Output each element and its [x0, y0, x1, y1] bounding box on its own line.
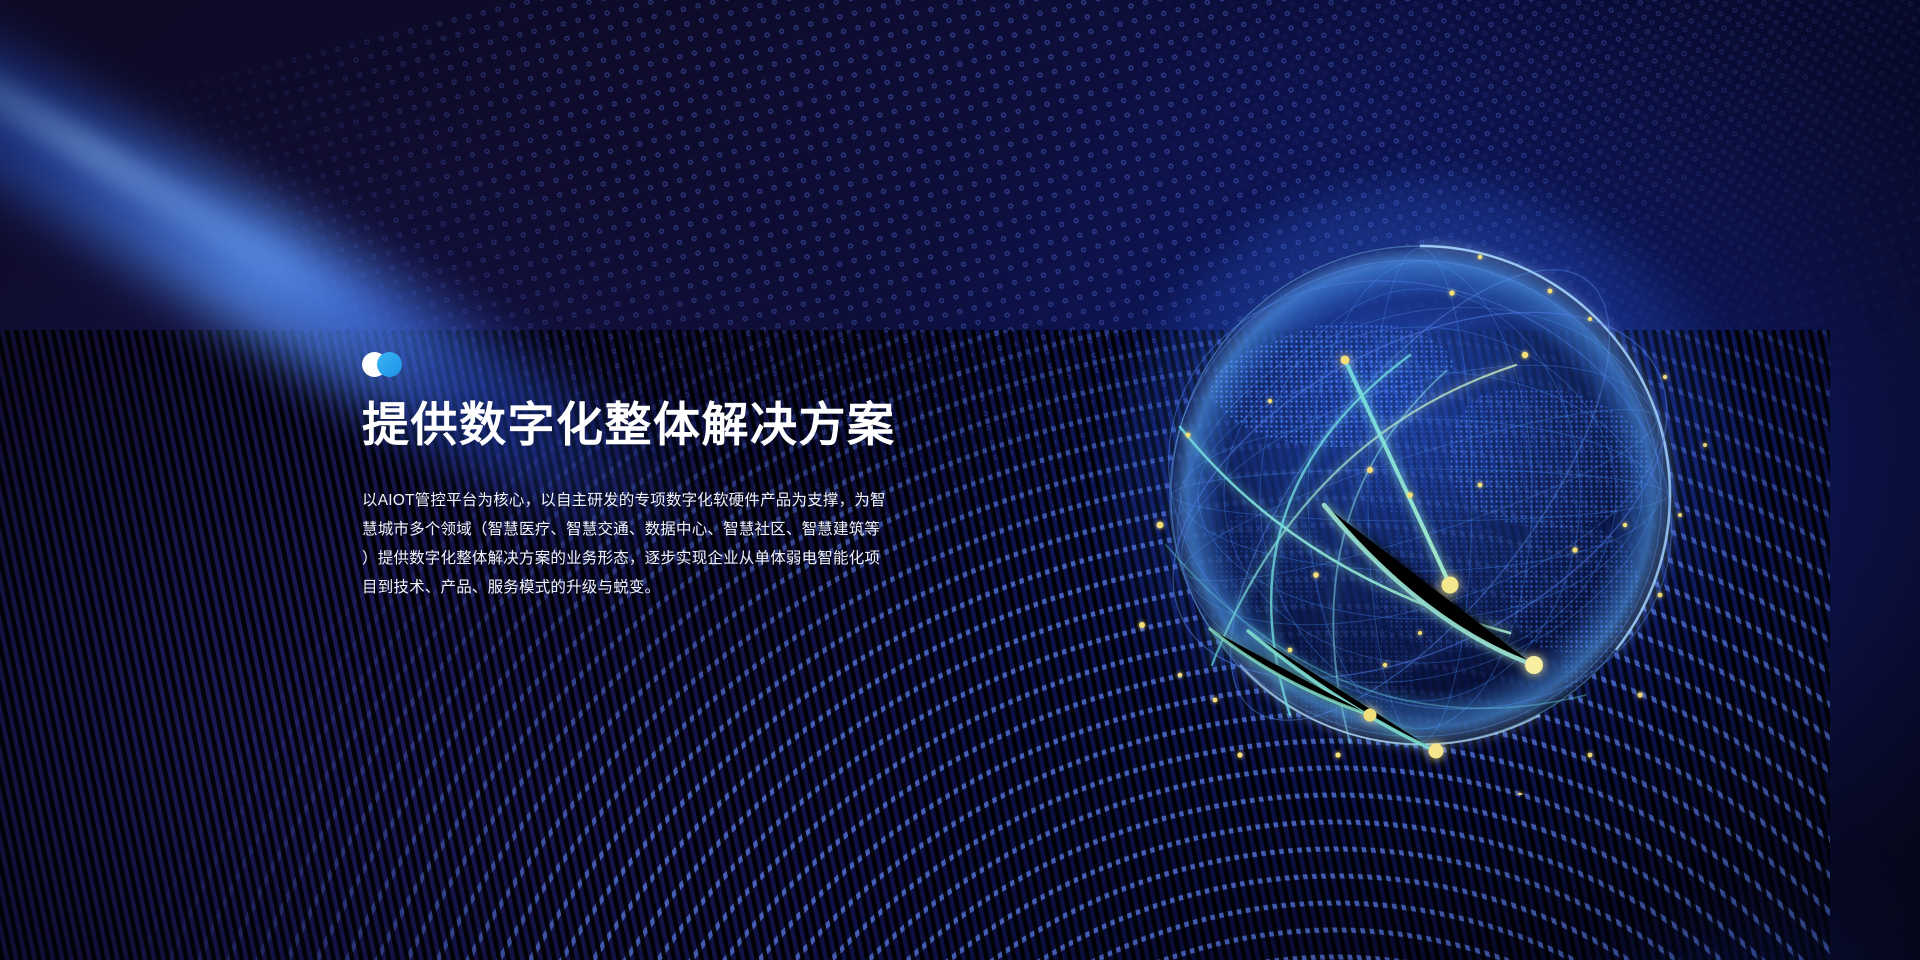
description-line: 以AIOT管控平台为核心，以自主研发的专项数字化软硬件产品为支撑，为智 [362, 486, 942, 515]
logo-mark [362, 352, 418, 377]
description-line: ）提供数字化整体解决方案的业务形态，逐步实现企业从单体弱电智能化项 [362, 544, 942, 573]
hero-banner: 提供数字化整体解决方案 以AIOT管控平台为核心，以自主研发的专项数字化软硬件产… [0, 0, 1920, 960]
hero-content: 提供数字化整体解决方案 以AIOT管控平台为核心，以自主研发的专项数字化软硬件产… [362, 352, 982, 602]
digital-globe-illustration [1120, 195, 1720, 795]
description-line: 慧城市多个领域（智慧医疗、智慧交通、数据中心、智慧社区、智慧建筑等 [362, 515, 942, 544]
hero-description: 以AIOT管控平台为核心，以自主研发的专项数字化软硬件产品为支撑，为智 慧城市多… [362, 486, 942, 602]
circle-blue-icon [377, 352, 402, 377]
description-line: 目到技术、产品、服务模式的升级与蜕变。 [362, 573, 942, 602]
page-title: 提供数字化整体解决方案 [362, 399, 982, 452]
